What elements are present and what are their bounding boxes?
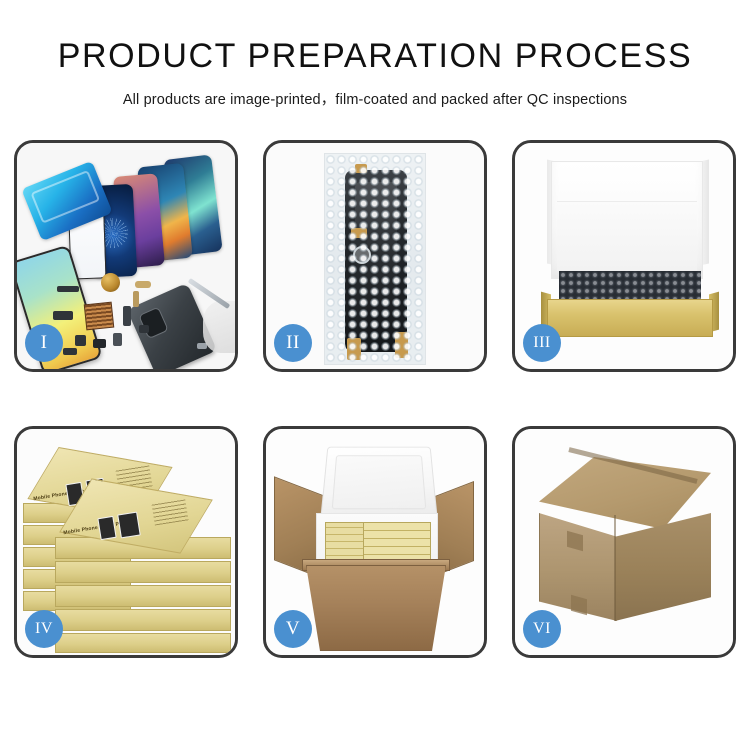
spare-part bbox=[75, 335, 86, 346]
spare-part bbox=[57, 286, 79, 292]
foam-box-lid bbox=[320, 447, 438, 520]
bubble-wrapped-contents bbox=[559, 271, 701, 301]
panel-foam-carton: V bbox=[263, 426, 487, 658]
kraft-box-side bbox=[55, 585, 231, 607]
logic-board-chip bbox=[84, 302, 115, 331]
foam-sheet bbox=[557, 201, 697, 271]
bubble-wrap-bag bbox=[324, 153, 426, 365]
process-panel-grid: I II bbox=[14, 140, 736, 658]
spare-part bbox=[113, 333, 122, 346]
box-artwork-chip bbox=[97, 516, 116, 540]
spare-part bbox=[133, 291, 139, 307]
product-preparation-infographic: PRODUCT PREPARATION PROCESS All products… bbox=[0, 0, 750, 750]
step-badge-5: V bbox=[274, 610, 312, 648]
kraft-box-side bbox=[55, 609, 231, 631]
spare-part bbox=[63, 348, 77, 355]
outer-carton bbox=[306, 565, 446, 651]
spare-part bbox=[123, 306, 131, 326]
spare-part bbox=[139, 325, 149, 333]
spare-part bbox=[93, 339, 106, 348]
panel-sealed-carton: VI bbox=[512, 426, 736, 658]
step-badge-2: II bbox=[274, 324, 312, 362]
page-title: PRODUCT PREPARATION PROCESS bbox=[0, 38, 750, 75]
box-artwork-chip bbox=[117, 512, 141, 539]
header: PRODUCT PREPARATION PROCESS All products… bbox=[0, 0, 750, 109]
step-badge-4: IV bbox=[25, 610, 63, 648]
page-subtitle: All products are image-printed，film-coat… bbox=[0, 88, 750, 109]
spare-part bbox=[53, 311, 73, 320]
panel-stacked-boxes: Mobile Phone Spare Parts Mobile Phone Sp… bbox=[14, 426, 238, 658]
kraft-box-side bbox=[55, 633, 231, 653]
panel-inner-box: III bbox=[512, 140, 736, 372]
step-badge-3: III bbox=[523, 324, 561, 362]
kraft-box-front bbox=[547, 299, 713, 337]
speaker-module bbox=[101, 273, 120, 292]
carton-corner-edge bbox=[614, 515, 616, 621]
bubble-texture bbox=[325, 154, 425, 364]
step-badge-6: VI bbox=[523, 610, 561, 648]
step-badge-1: I bbox=[25, 324, 63, 362]
hand bbox=[203, 301, 235, 353]
spare-part bbox=[135, 281, 151, 288]
panel-phone-parts: I bbox=[14, 140, 238, 372]
packed-boxes bbox=[363, 522, 431, 564]
panel-bubble-wrap: II bbox=[263, 140, 487, 372]
kraft-box-side bbox=[55, 561, 231, 583]
